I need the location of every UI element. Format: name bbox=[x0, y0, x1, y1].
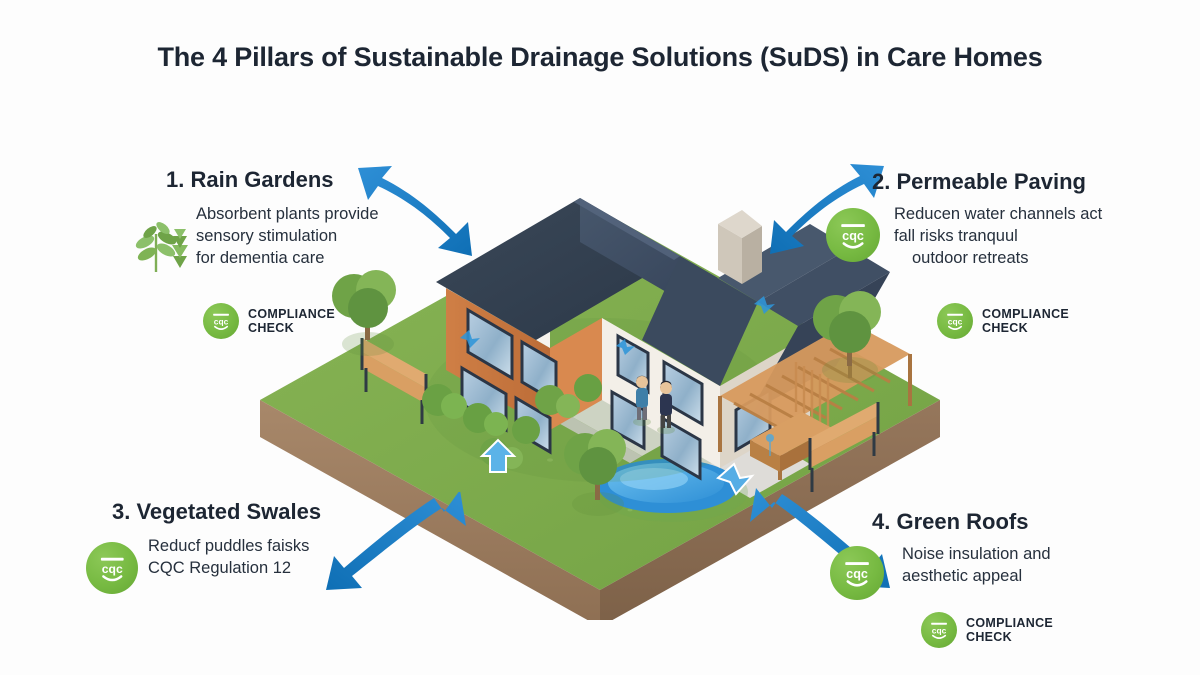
pillar-3-body-line-1: Reducf puddles faisks bbox=[148, 536, 362, 558]
compliance-label-line-2: CHECK bbox=[982, 321, 1069, 335]
pillar-1-body-line-2: sensory stimulation bbox=[196, 226, 416, 248]
cqc-glyph: cqc bbox=[832, 214, 874, 256]
compliance-check-pillar-2: cqc COMPLIANCE CHECK bbox=[937, 303, 1069, 339]
compliance-check-pillar-1: cqc COMPLIANCE CHECK bbox=[203, 303, 335, 339]
compliance-label-line-1: COMPLIANCE bbox=[966, 616, 1053, 630]
pillar-3-body: Reducf puddles faisks CQC Regulation 12 bbox=[148, 536, 362, 580]
cqc-badge-text: cqc bbox=[846, 567, 868, 581]
page-title: The 4 Pillars of Sustainable Drainage So… bbox=[0, 42, 1200, 73]
pillar-2-body-line-3: outdoor retreats bbox=[912, 248, 1142, 270]
compliance-check-pillar-4: cqc COMPLIANCE CHECK bbox=[921, 612, 1053, 648]
cqc-glyph: cqc bbox=[92, 548, 133, 589]
cqc-badge-icon: cqc bbox=[203, 303, 239, 339]
cqc-badge-text: cqc bbox=[948, 316, 963, 326]
cqc-glyph: cqc bbox=[836, 552, 878, 594]
pillar-4-body: Noise insulation and aesthetic appeal bbox=[902, 544, 1122, 588]
cqc-badge-icon: cqc bbox=[937, 303, 973, 339]
pillar-2-heading: 2. Permeable Paving bbox=[872, 170, 1142, 194]
pillar-2-body-line-1: Reducen water channels act bbox=[894, 204, 1142, 226]
pillar-3-heading: 3. Vegetated Swales bbox=[112, 500, 362, 524]
pillar-4-body-line-2: aesthetic appeal bbox=[902, 566, 1122, 588]
pillar-4-body-line-1: Noise insulation and bbox=[902, 544, 1122, 566]
cqc-badge-icon-pillar-3: cqc bbox=[86, 542, 138, 594]
cqc-badge-icon-pillar-4: cqc bbox=[830, 546, 884, 600]
cqc-glyph: cqc bbox=[207, 307, 235, 335]
cqc-badge-text: cqc bbox=[932, 625, 947, 635]
cqc-badge-icon-pillar-2: cqc bbox=[826, 208, 880, 262]
pillar-3-body-line-2: CQC Regulation 12 bbox=[148, 558, 362, 580]
cqc-glyph: cqc bbox=[941, 307, 969, 335]
cqc-badge-icon: cqc bbox=[921, 612, 957, 648]
pillar-3-vegetated-swales: 3. Vegetated Swales cqc Reducf puddles f… bbox=[112, 500, 362, 580]
pillar-1-body-line-1: Absorbent plants provide bbox=[196, 204, 416, 226]
cqc-glyph: cqc bbox=[925, 616, 953, 644]
pillar-1-body-line-3: for dementia care bbox=[196, 248, 416, 270]
compliance-check-label: COMPLIANCE CHECK bbox=[966, 616, 1053, 644]
pillar-1-body: Absorbent plants provide sensory stimula… bbox=[196, 204, 416, 269]
compliance-label-line-2: CHECK bbox=[966, 630, 1053, 644]
pillar-1-rain-gardens: 1. Rain Gardens Absorbent plants provide… bbox=[166, 168, 416, 269]
compliance-label-line-2: CHECK bbox=[248, 321, 335, 335]
compliance-check-label: COMPLIANCE CHECK bbox=[248, 307, 335, 335]
cqc-badge-text: cqc bbox=[842, 229, 864, 243]
pillar-4-heading: 4. Green Roofs bbox=[872, 510, 1122, 534]
compliance-check-label: COMPLIANCE CHECK bbox=[982, 307, 1069, 335]
compliance-label-line-1: COMPLIANCE bbox=[248, 307, 335, 321]
pillar-2-body-line-2: fall risks tranquul bbox=[894, 226, 1142, 248]
pillar-4-green-roofs: 4. Green Roofs cqc Noise insulation and … bbox=[872, 510, 1122, 588]
pillar-1-heading: 1. Rain Gardens bbox=[166, 168, 416, 192]
cqc-badge-text: cqc bbox=[102, 562, 123, 576]
compliance-label-line-1: COMPLIANCE bbox=[982, 307, 1069, 321]
infographic-canvas: The 4 Pillars of Sustainable Drainage So… bbox=[0, 0, 1200, 675]
pillar-2-permeable-paving: 2. Permeable Paving cqc Reducen water ch… bbox=[872, 170, 1142, 269]
pillar-2-body: Reducen water channels act fall risks tr… bbox=[894, 204, 1142, 269]
tree-left bbox=[332, 270, 396, 356]
cqc-badge-text: cqc bbox=[214, 316, 229, 326]
